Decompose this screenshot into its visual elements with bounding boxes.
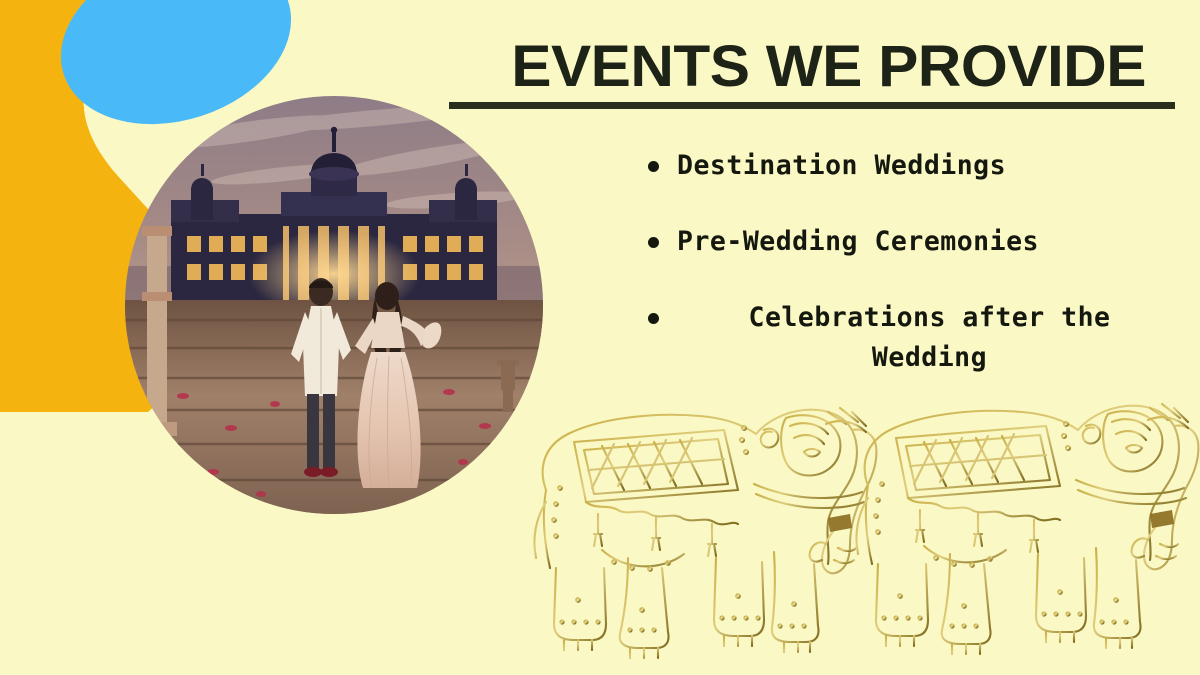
title-underline xyxy=(449,102,1175,109)
list-item: Celebrations after the Wedding xyxy=(648,298,1168,378)
events-list: Destination Weddings Pre-Wedding Ceremon… xyxy=(648,146,1168,378)
slide-canvas: EVENTS WE PROVIDE Destination Weddings P… xyxy=(0,0,1200,675)
bullet-dot-icon xyxy=(648,313,659,324)
list-item-label: Destination Weddings xyxy=(677,146,1168,186)
page-title: EVENTS WE PROVIDE xyxy=(449,36,1200,98)
decorated-elephant-right xyxy=(856,404,1198,654)
wedding-photo xyxy=(125,96,543,514)
list-item-label: Pre-Wedding Ceremonies xyxy=(677,222,1168,262)
list-item-label: Celebrations after the Wedding xyxy=(691,298,1168,378)
decorated-elephant-left xyxy=(534,408,876,658)
title-block: EVENTS WE PROVIDE xyxy=(449,36,1179,109)
list-item: Pre-Wedding Ceremonies xyxy=(648,222,1168,262)
bullet-dot-icon xyxy=(648,237,659,248)
elephant-decorations xyxy=(528,368,1200,668)
list-item: Destination Weddings xyxy=(648,146,1168,186)
bullet-dot-icon xyxy=(648,161,659,172)
